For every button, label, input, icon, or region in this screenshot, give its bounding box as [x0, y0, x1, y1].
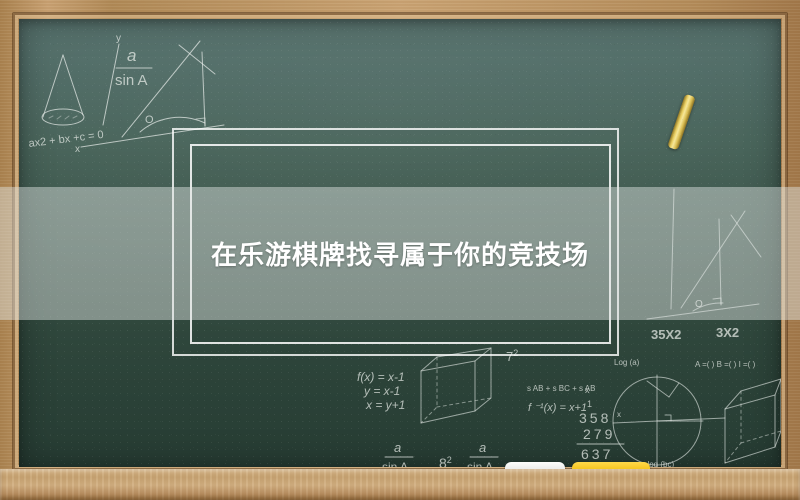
inverse-function-text: f ⁻¹(x) = x+1: [528, 402, 587, 414]
function-equations-text: f(x) = x-1 y = x-1 x = y+1: [357, 370, 405, 412]
svg-text:f(x) = x-1: f(x) = x-1: [357, 370, 405, 384]
svg-text:x = y+1: x = y+1: [365, 398, 405, 412]
mult-3x2-text: 3X2: [716, 325, 739, 340]
svg-text:1: 1: [587, 399, 592, 409]
cone-sketch: [42, 55, 84, 125]
svg-text:a: a: [479, 440, 486, 455]
svg-text:a: a: [394, 440, 401, 455]
svg-text:y = x-1: y = x-1: [363, 384, 400, 398]
svg-text:x: x: [75, 144, 80, 155]
chalk-stick-yellow-on-board: [667, 94, 696, 151]
fraction-a-over-sinA-topleft: a sin A: [115, 46, 152, 89]
chalkboard-banner: a sin A y x O ax2 +: [0, 0, 800, 500]
mult-35x2-text: 35X2: [651, 327, 681, 342]
scribble-sum-text: s AB + s BC + s AB: [527, 384, 595, 393]
svg-text:637: 637: [581, 446, 613, 462]
svg-text:sin A: sin A: [467, 460, 493, 467]
log-label-text: Log (a): [614, 358, 640, 367]
column-addition: x 1 358 279 637: [577, 385, 624, 462]
svg-text:358: 358: [579, 410, 611, 426]
svg-text:x: x: [617, 410, 621, 419]
svg-text:279: 279: [583, 426, 615, 442]
matrix-row-text: A =( ) B =( ) I =( ): [695, 360, 756, 369]
quadratic-formula-text: ax2 + bx +c = 0: [28, 129, 104, 150]
svg-text:O: O: [145, 114, 154, 126]
sphere-axis-sketch: x: [613, 375, 725, 467]
svg-text:a: a: [127, 46, 136, 65]
svg-text:sin A: sin A: [382, 460, 408, 467]
headline-band: 在乐游棋牌找寻属于你的竞技场: [0, 187, 800, 320]
fraction-a-over-sinA-bottom-mid: a sin A: [467, 440, 498, 467]
cube-sketch-small: [421, 348, 491, 423]
svg-text:sin A: sin A: [115, 72, 148, 89]
chalk-tray-ledge: [0, 469, 800, 500]
svg-text:y: y: [116, 33, 121, 44]
headline-text: 在乐游棋牌找寻属于你的竞技场: [211, 235, 589, 272]
eight-squared-text: 82: [439, 455, 452, 467]
fraction-a-over-sinA-bottom-left: a sin A: [382, 440, 413, 467]
cube-sketch-large: [725, 379, 781, 463]
svg-text:x: x: [585, 385, 590, 395]
